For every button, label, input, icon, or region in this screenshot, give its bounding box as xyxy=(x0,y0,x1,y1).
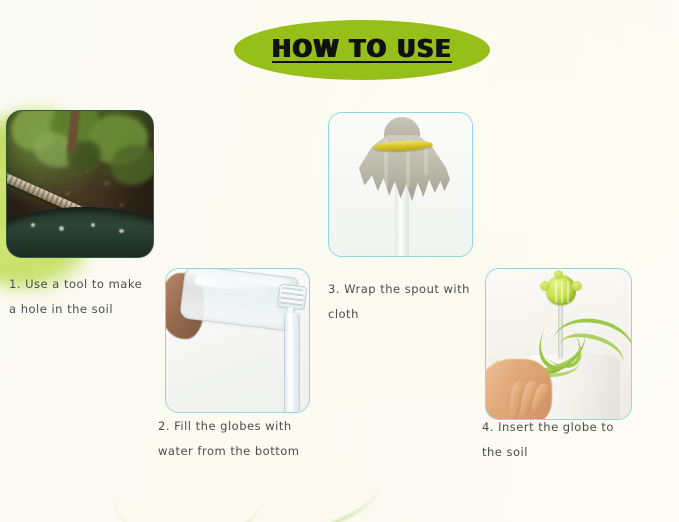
cloth-photo-scene xyxy=(329,113,472,256)
soil-speck xyxy=(103,181,110,186)
plant-pot-rim xyxy=(6,207,154,258)
watering-globe xyxy=(546,275,576,305)
step-3-caption: 3. Wrap the spout with cloth xyxy=(328,277,488,327)
bottle-cap-threads xyxy=(280,287,304,308)
step-2-image xyxy=(165,268,310,413)
plant-leaf xyxy=(111,145,154,185)
bottle-photo-scene xyxy=(166,269,309,412)
step-2-caption: 2. Fill the globes with water from the b… xyxy=(158,414,333,464)
soil-photo-scene xyxy=(7,111,153,257)
soil-speck xyxy=(37,177,42,181)
step-1-image xyxy=(6,110,154,258)
glass-globe-tube xyxy=(284,313,300,413)
water-droplet xyxy=(59,226,64,231)
step-1-caption: 1. Use a tool to make a hole in the soil xyxy=(9,272,169,322)
bottle-highlight xyxy=(194,277,280,295)
globe-nub xyxy=(554,270,563,279)
soil-speck xyxy=(65,191,71,196)
soil-speck xyxy=(119,203,124,207)
step-4-image xyxy=(485,268,632,420)
grass-blade xyxy=(0,495,211,522)
water-droplet xyxy=(119,229,124,233)
page-title: HOW TO USE xyxy=(244,20,480,80)
soil-speck xyxy=(85,169,90,173)
step-3-image xyxy=(328,112,473,257)
water-droplet xyxy=(91,223,95,227)
how-to-use-infographic: HOW TO USE 1. xyxy=(0,0,679,522)
grass-blade xyxy=(0,457,264,522)
globe-ridge xyxy=(561,281,563,303)
water-droplet xyxy=(31,223,35,227)
globe-ridge xyxy=(567,281,569,303)
globe-ridge xyxy=(555,281,557,303)
globe-nub xyxy=(540,281,550,291)
page-title-badge: HOW TO USE xyxy=(234,20,490,80)
globe-nub xyxy=(572,281,582,291)
step-4-caption: 4. Insert the globe to the soil xyxy=(482,415,642,465)
title-underline xyxy=(272,61,452,63)
plant-photo-scene xyxy=(486,269,631,419)
